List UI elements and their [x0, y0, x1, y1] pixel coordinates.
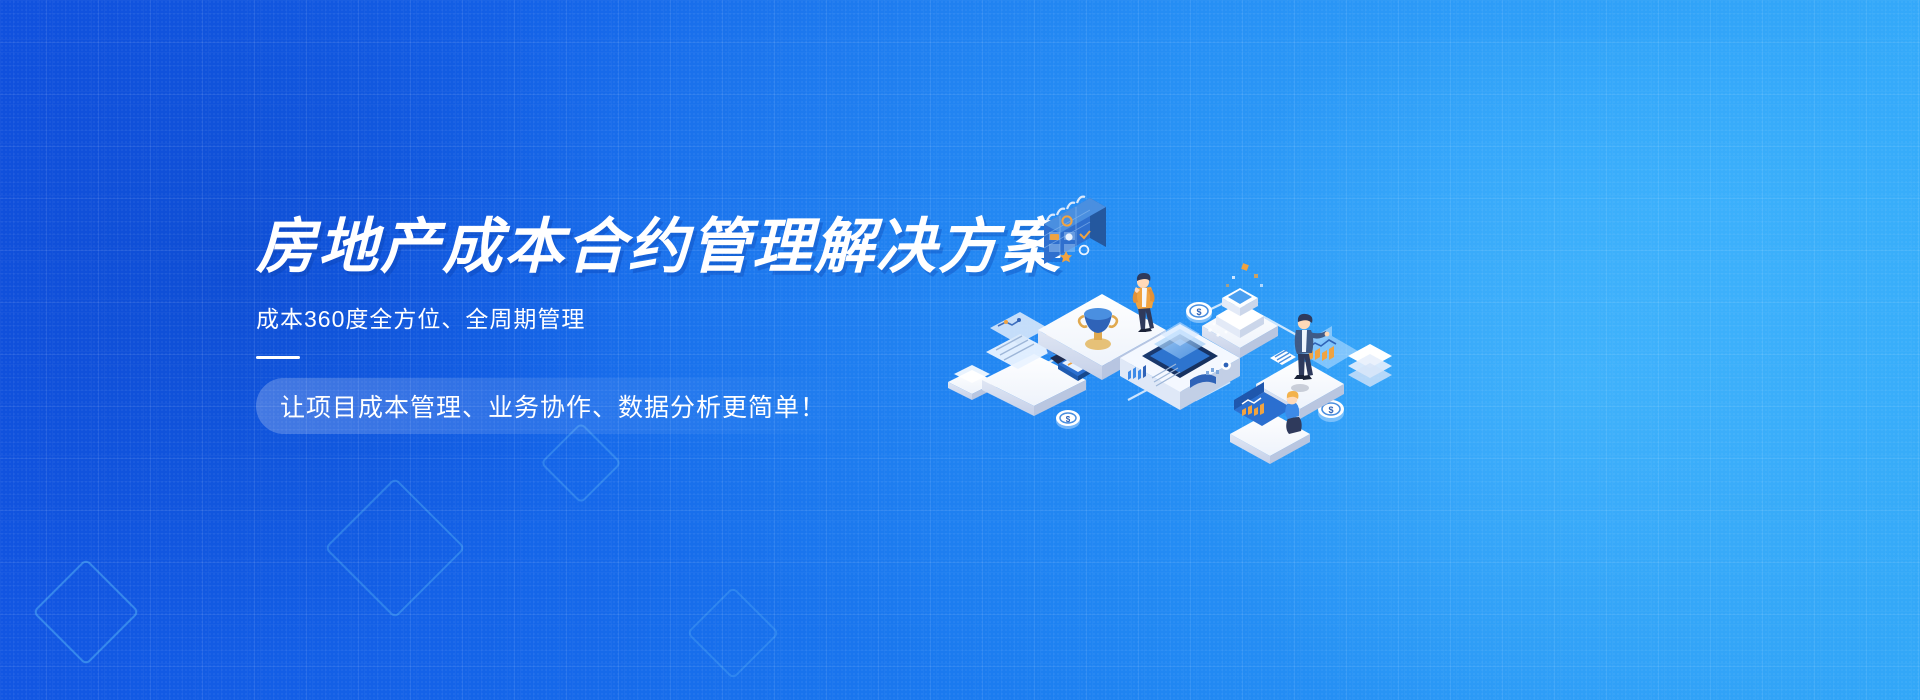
upload-particles	[1226, 263, 1263, 287]
calendar-board	[1044, 197, 1106, 264]
mini-document	[1270, 350, 1296, 365]
page-title: 房地产成本合约管理解决方案	[256, 215, 1016, 278]
svg-text:$: $	[1328, 405, 1333, 415]
page-subtitle: 成本360度全方位、全周期管理	[256, 300, 1016, 334]
decorative-diamond-2	[324, 477, 465, 618]
hero-banner: 房地产成本合约管理解决方案 成本360度全方位、全周期管理 让项目成本管理、业务…	[0, 0, 1920, 700]
hero-copy-block: 房地产成本合约管理解决方案 成本360度全方位、全周期管理	[256, 215, 1016, 359]
svg-text:$: $	[1066, 415, 1071, 424]
coin-dollar-lower: $	[1056, 410, 1080, 429]
coin-dollar-upper: $	[1186, 302, 1212, 323]
decorative-diamond-1	[32, 558, 139, 665]
hero-illustration: $ $ $	[930, 150, 1410, 450]
decorative-diamond-3	[540, 422, 622, 504]
cta-banner-pill[interactable]: 让项目成本管理、业务协作、数据分析更简单！	[256, 378, 860, 434]
decorative-diamond-4	[686, 586, 779, 679]
svg-text:$: $	[1196, 307, 1201, 317]
cta-banner-text: 让项目成本管理、业务协作、数据分析更简单！	[280, 388, 826, 424]
title-divider	[256, 356, 300, 359]
